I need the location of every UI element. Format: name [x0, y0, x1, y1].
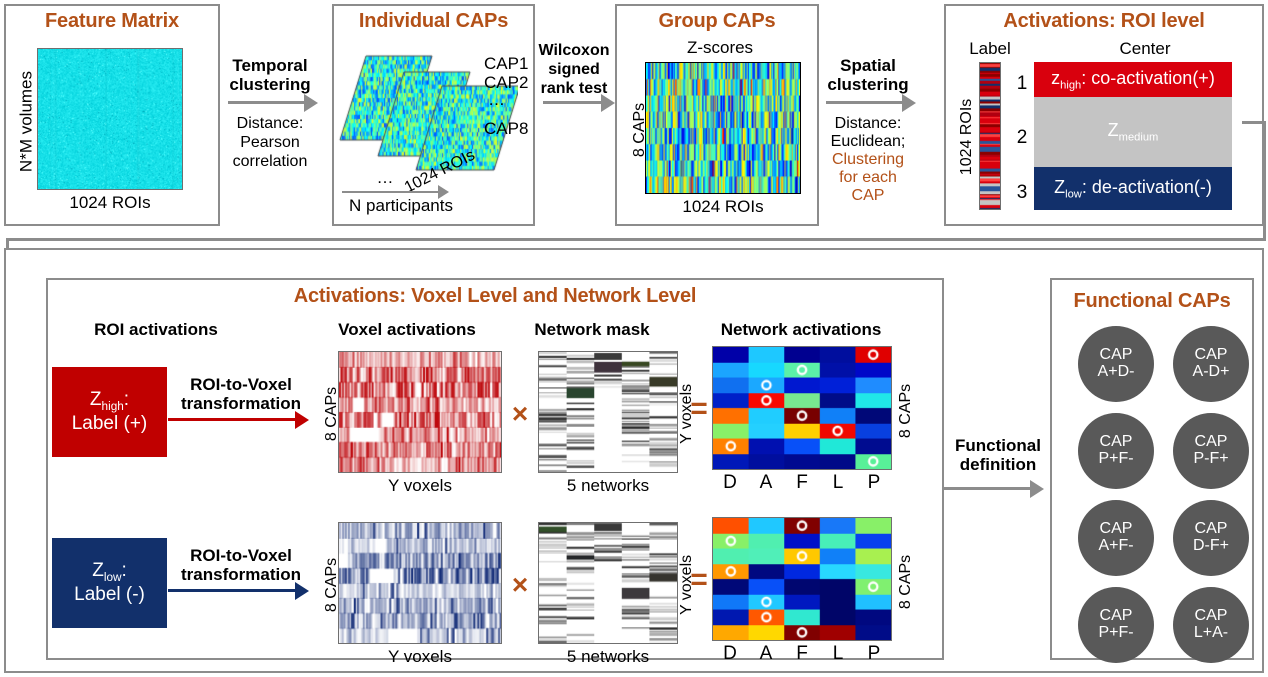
individual-caps-cap8: CAP8 [484, 119, 544, 138]
arrow-roi-to-voxel-negative-line [168, 589, 298, 592]
roi-row-low-prefix: Z [1054, 177, 1065, 197]
individual-caps-xlabel: N participants [336, 196, 466, 215]
functional-cap-circle-3[interactable]: CAP P-F+ [1173, 413, 1249, 489]
cap-circle-7-line1: CAP [1195, 608, 1228, 625]
arrow-spatial-sub-5: CAP [814, 187, 922, 205]
roi-level-ylabel: 1024 ROIs [958, 87, 976, 187]
figure-canvas: Feature Matrix N*M volumes 1024 ROIs Tem… [0, 0, 1268, 677]
voxel-network-title: Activations: Voxel Level and Network Lev… [46, 285, 944, 308]
arrow-spatial-sub-3: Clustering [814, 151, 922, 169]
cap-circle-5-line1: CAP [1195, 521, 1228, 538]
cap-circle-1-line2: A-D+ [1193, 364, 1230, 381]
functional-cap-circle-2[interactable]: CAP P+F- [1078, 413, 1154, 489]
roi-activation-box-negative: Zlow: Label (-) [52, 538, 167, 628]
network-positive-xtick-A: A [748, 472, 784, 493]
cap-circle-4-line2: A+F- [1098, 538, 1133, 555]
multiply-symbol-negative: × [508, 569, 532, 601]
arrow-temporal-head [304, 94, 318, 112]
feature-matrix-xlabel: 1024 ROIs [37, 193, 183, 212]
arrow-spatial-line [826, 101, 904, 104]
feature-matrix-title: Feature Matrix [4, 10, 220, 33]
voxel-activations-positive-heatmap [338, 351, 502, 473]
functional-cap-circle-7[interactable]: CAP L+A- [1173, 587, 1249, 663]
network-negative-xtick-A: A [748, 643, 784, 664]
network-negative-xtick-P: P [856, 643, 892, 664]
arrow-spatial-head [902, 94, 916, 112]
group-caps-ylabel: 8 CAPs [631, 80, 649, 180]
voxel-positive-xlabel: Y voxels [338, 476, 502, 495]
arrow-spatial-sub-2: Euclidean; [814, 133, 922, 151]
individual-caps-ellipsis: … [488, 90, 528, 109]
arrow-roi-to-voxel-positive-head [295, 411, 309, 429]
arrow-functional-label-1: Functional [948, 436, 1048, 455]
roi-level-center-header: Center [1040, 39, 1250, 58]
arrow-wilcoxon-label-2: signed [536, 61, 612, 79]
arrow-wilcoxon-label-3: rank test [531, 80, 617, 98]
roi-row-index-2: 2 [1013, 127, 1031, 148]
functional-cap-circle-5[interactable]: CAP D-F+ [1173, 500, 1249, 576]
network-positive-xtick-F: F [784, 472, 820, 493]
arrow-temporal-label-1: Temporal [222, 56, 318, 75]
feature-matrix-heatmap [37, 48, 183, 190]
connector-right-h2 [6, 238, 1264, 241]
arrow-participants-line [342, 191, 442, 193]
feature-matrix-ylabel: N*M volumes [16, 52, 35, 192]
cap-circle-3-line2: P-F+ [1193, 451, 1228, 468]
col-header-roi-activations: ROI activations [46, 320, 266, 339]
equals-symbol-negative: = [686, 563, 712, 597]
cap-circle-2-line2: P+F- [1098, 451, 1133, 468]
roi-center-row-high: zhigh: co-activation(+) [1034, 62, 1232, 97]
mask-negative-xlabel: 5 networks [538, 647, 678, 666]
arrow-spatial-sub-1: Distance: [820, 115, 916, 133]
box-negative-sub: low [104, 571, 122, 584]
roi-row-index-3: 3 [1013, 182, 1031, 203]
cap-circle-3-line1: CAP [1195, 434, 1228, 451]
functional-cap-circle-0[interactable]: CAP A+D- [1078, 326, 1154, 402]
network-activations-positive-heatmap [712, 346, 892, 470]
group-caps-title: Group CAPs [615, 10, 819, 33]
roi-row-low-sub: low [1065, 188, 1082, 200]
network-mask-positive [538, 351, 678, 473]
network-negative-ylabel: 8 CAPs [897, 532, 915, 632]
roi-row-low-text: : de-activation(-) [1082, 177, 1212, 197]
individual-caps-inner-ellipsis: … [370, 168, 400, 187]
roi-level-label-header: Label [950, 39, 1030, 58]
network-positive-xtick-L: L [820, 472, 856, 493]
arrow-wilcoxon-line [543, 101, 603, 104]
cap-circle-5-line2: D-F+ [1193, 538, 1229, 555]
network-positive-xtick-P: P [856, 472, 892, 493]
group-caps-heatmap [645, 62, 801, 194]
roi-row-high-text: : co-activation(+) [1081, 68, 1215, 88]
arrow-temporal-sub-3: correlation [214, 153, 326, 171]
functional-caps-title: Functional CAPs [1050, 290, 1254, 313]
roi-row-high-prefix: z [1051, 68, 1060, 88]
functional-cap-circle-6[interactable]: CAP P+F- [1078, 587, 1154, 663]
arrow-temporal-sub-2: Pearson [222, 134, 318, 152]
arrow-roi-to-voxel-positive-line [168, 418, 298, 421]
arrow-roi-to-voxel-negative-label-1: ROI-to-Voxel [168, 546, 314, 565]
cap-circle-0-line1: CAP [1100, 347, 1133, 364]
cap-circle-6-line1: CAP [1100, 608, 1133, 625]
roi-row-high-sub: high [1060, 79, 1081, 91]
box-positive-line2: Label (+) [72, 413, 148, 435]
functional-cap-circle-4[interactable]: CAP A+F- [1078, 500, 1154, 576]
cap-circle-1-line1: CAP [1195, 347, 1228, 364]
mask-positive-xlabel: 5 networks [538, 476, 678, 495]
group-caps-toplabel: Z-scores [640, 38, 800, 57]
box-positive-colon: : [124, 389, 129, 410]
equals-symbol-positive: = [686, 392, 712, 426]
roi-label-strip [979, 62, 1001, 210]
col-header-network-activations: Network activations [686, 320, 916, 339]
voxel-negative-ylabel: 8 CAPs [323, 535, 341, 635]
box-negative-prefix: Z [92, 560, 104, 581]
voxel-positive-ylabel: 8 CAPs [323, 364, 341, 464]
arrow-temporal-line [228, 101, 306, 104]
roi-center-row-low: Zlow: de-activation(-) [1034, 167, 1232, 210]
col-header-voxel-activations: Voxel activations [312, 320, 502, 339]
functional-cap-circle-1[interactable]: CAP A-D+ [1173, 326, 1249, 402]
arrow-spatial-sub-4: for each [814, 169, 922, 187]
cap-circle-2-line1: CAP [1100, 434, 1133, 451]
multiply-symbol-positive: × [508, 398, 532, 430]
arrow-functional-head [1030, 480, 1044, 498]
arrow-temporal-sub-1: Distance: [222, 115, 318, 133]
network-activations-negative-heatmap [712, 517, 892, 641]
cap-circle-6-line2: P+F- [1098, 625, 1133, 642]
roi-row-medium-sub: medium [1119, 132, 1159, 144]
roi-level-title: Activations: ROI level [944, 10, 1264, 33]
arrow-roi-to-voxel-positive-label-1: ROI-to-Voxel [168, 375, 314, 394]
arrow-functional-label-2: definition [948, 455, 1048, 474]
arrow-roi-to-voxel-negative-head [295, 582, 309, 600]
network-mask-negative [538, 522, 678, 644]
network-positive-ylabel: 8 CAPs [897, 361, 915, 461]
roi-center-row-medium: Zmedium [1034, 97, 1232, 167]
col-header-network-mask: Network mask [512, 320, 672, 339]
network-negative-xtick-D: D [712, 643, 748, 664]
group-caps-xlabel: 1024 ROIs [645, 197, 801, 216]
connector-right-v [1263, 121, 1266, 241]
network-negative-xtick-L: L [820, 643, 856, 664]
arrow-spatial-label-1: Spatial [820, 56, 916, 75]
roi-activation-box-positive: Zhigh: Label (+) [52, 367, 167, 457]
individual-caps-title: Individual CAPs [332, 10, 535, 33]
roi-row-index-1: 1 [1013, 73, 1031, 94]
box-negative-colon: : [121, 560, 126, 581]
voxel-activations-negative-heatmap [338, 522, 502, 644]
cap-circle-7-line2: L+A- [1194, 625, 1228, 642]
arrow-temporal-label-2: clustering [222, 75, 318, 94]
cap-circle-4-line1: CAP [1100, 521, 1133, 538]
box-positive-sub: high [102, 400, 124, 413]
voxel-negative-xlabel: Y voxels [338, 647, 502, 666]
box-negative-line2: Label (-) [74, 584, 145, 606]
arrow-wilcoxon-label-1: Wilcoxon [536, 42, 612, 60]
arrow-functional-line [944, 487, 1034, 490]
roi-row-medium-prefix: Z [1108, 120, 1119, 140]
arrow-spatial-label-2: clustering [814, 75, 922, 94]
cap-circle-0-line2: A+D- [1098, 364, 1135, 381]
individual-caps-cap1: CAP1 [484, 54, 544, 73]
network-negative-xtick-F: F [784, 643, 820, 664]
box-positive-prefix: Z [90, 389, 102, 410]
network-positive-xtick-D: D [712, 472, 748, 493]
